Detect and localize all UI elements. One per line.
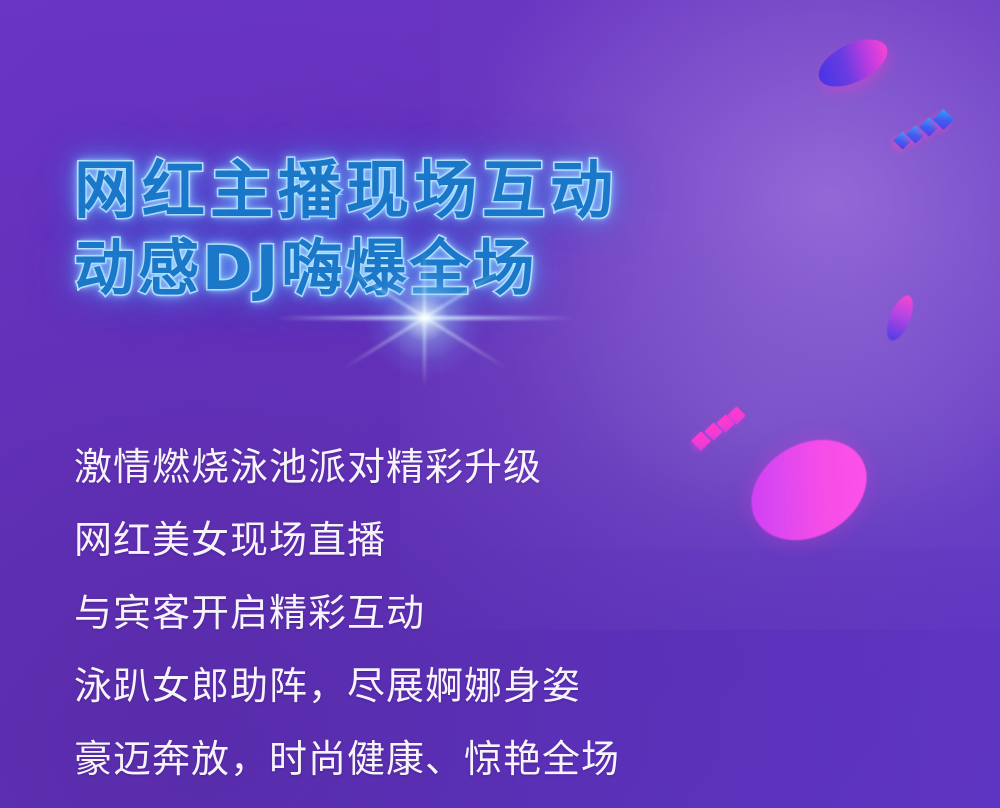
body-line: 豪迈奔放，时尚健康、惊艳全场 bbox=[74, 724, 924, 797]
headline-block: 网红主播现场互动 动感DJ嗨爆全场 bbox=[74, 152, 834, 308]
headline-line-2-wrap: 动感DJ嗨爆全场 bbox=[74, 230, 834, 308]
headline-line-1: 网红主播现场互动 bbox=[74, 152, 834, 230]
body-line: 网红美女现场直播 bbox=[74, 505, 924, 578]
body-line: 激情燃烧泳池派对精彩升级 bbox=[74, 432, 924, 505]
body-copy-block: 激情燃烧泳池派对精彩升级 网红美女现场直播 与宾客开启精彩互动 泳趴女郎助阵，尽… bbox=[74, 432, 924, 797]
poster-canvas: 网红主播现场互动 动感DJ嗨爆全场 激情燃烧泳池派对精彩升级 网红美女现场直播 … bbox=[0, 0, 1000, 808]
headline-line-2: 动感DJ嗨爆全场 bbox=[74, 230, 834, 308]
body-line: 泳趴女郎助阵，尽展婀娜身姿 bbox=[74, 651, 924, 724]
headline-line-1-wrap: 网红主播现场互动 bbox=[74, 152, 834, 230]
body-line: 与宾客开启精彩互动 bbox=[74, 578, 924, 651]
